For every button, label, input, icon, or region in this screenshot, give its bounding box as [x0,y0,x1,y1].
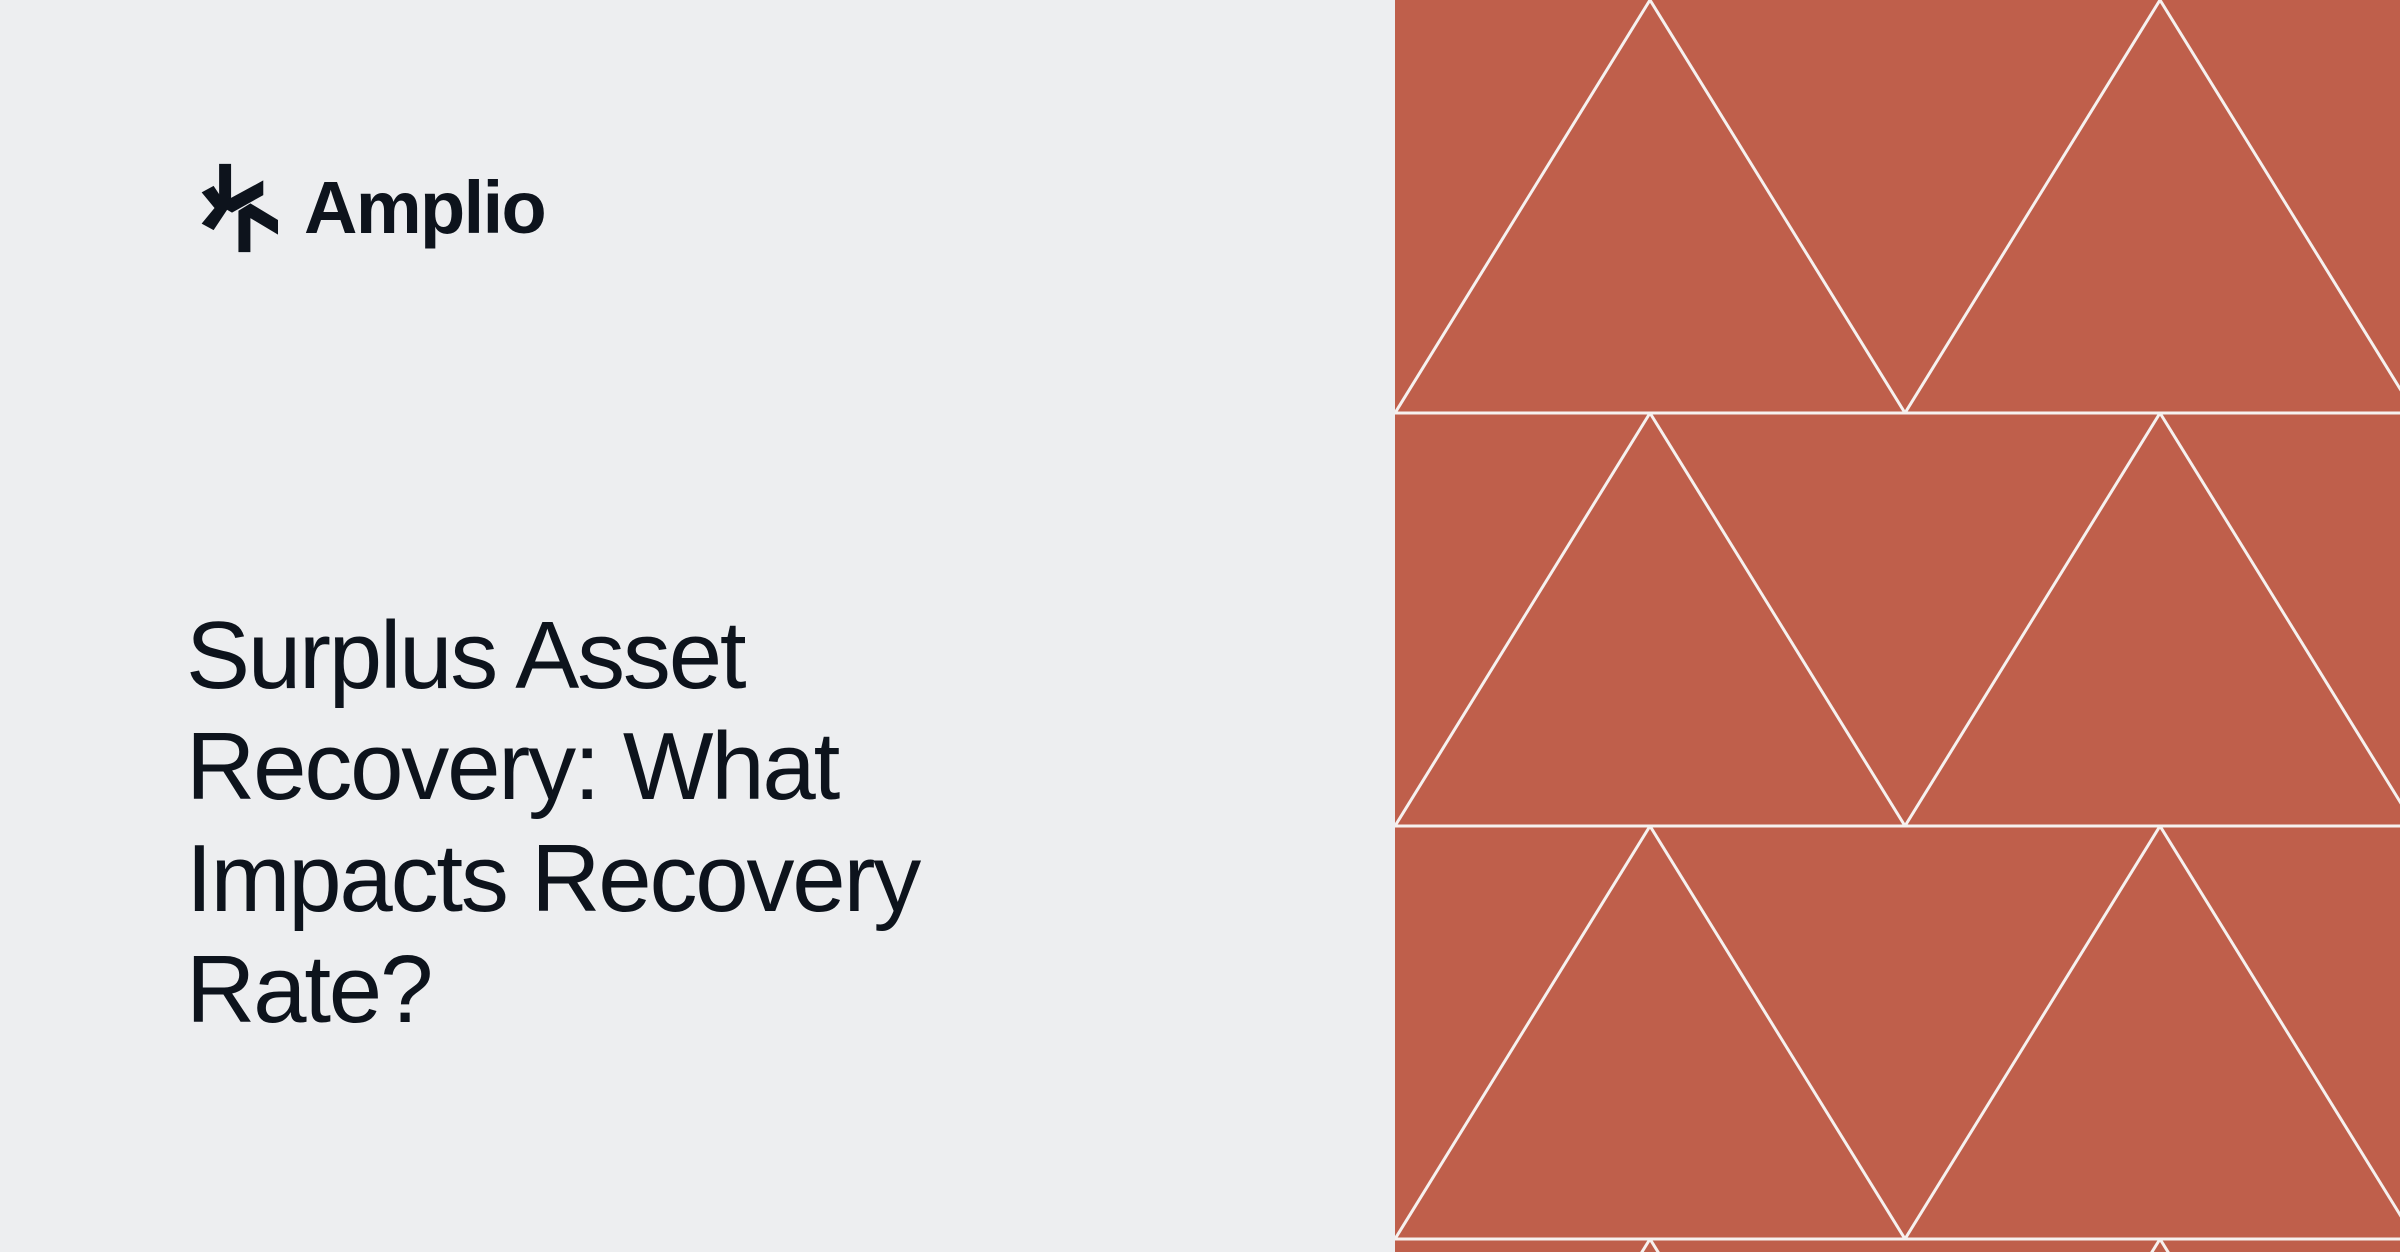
decorative-panel [1395,0,2400,1252]
page-title-line-3: Impacts Recovery [186,823,1196,934]
page-title-line-2: Recovery: What [186,711,1196,822]
page-title: Surplus Asset Recovery: What Impacts Rec… [186,600,1196,1045]
content-panel: Amplio Surplus Asset Recovery: What Impa… [0,0,1395,1252]
title-card-page: Amplio Surplus Asset Recovery: What Impa… [0,0,2400,1252]
brand-lockup[interactable]: Amplio [186,163,545,253]
amplio-three-chevron-star-icon [186,162,278,254]
triangle-lattice-pattern [1395,0,2400,1252]
page-title-line-4: Rate? [186,934,1196,1045]
page-title-line-1: Surplus Asset [186,600,1196,711]
brand-name: Amplio [304,171,545,245]
